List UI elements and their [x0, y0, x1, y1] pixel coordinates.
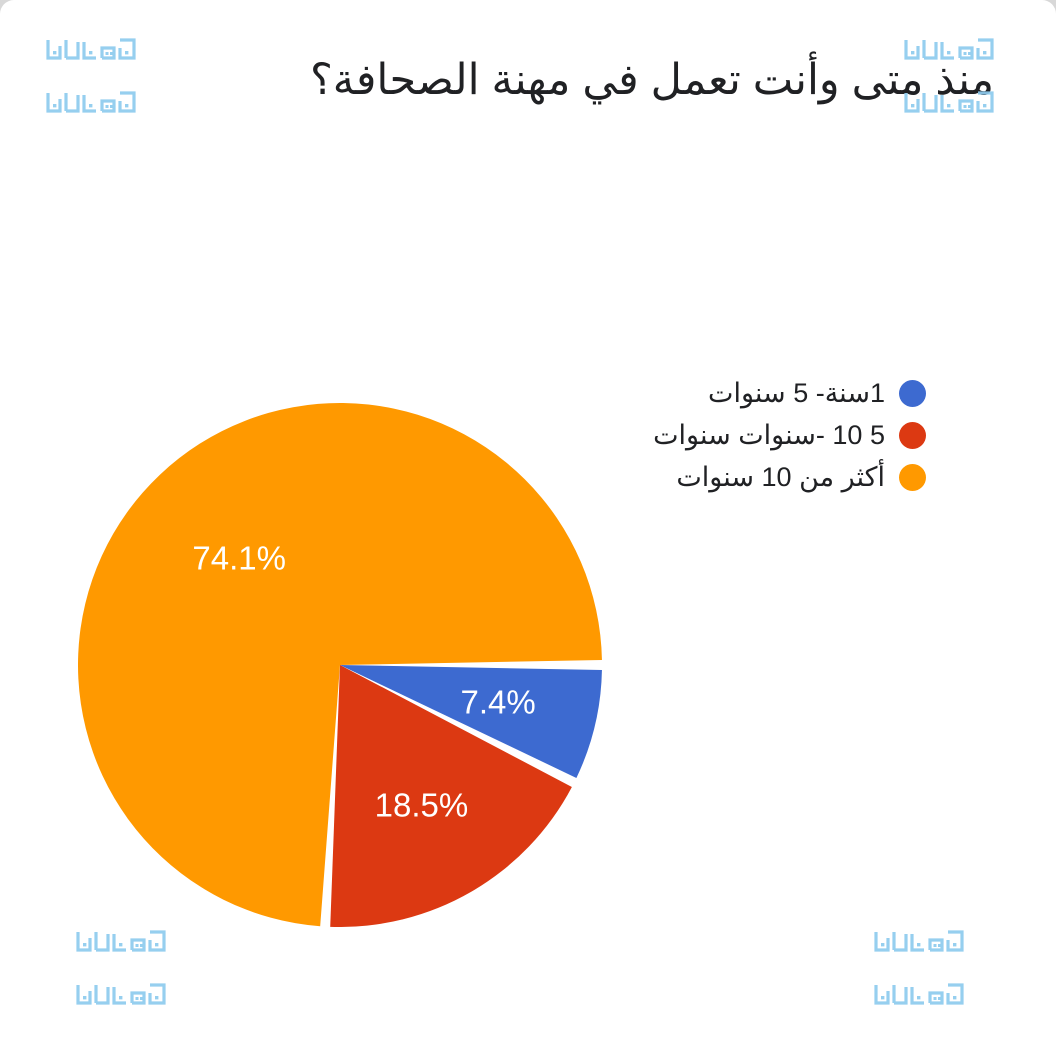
chart-page: منذ متى وأنت تعمل في مهنة الصحافة؟ 7.4%1… [0, 0, 1056, 1043]
pie-slice-label-red: 18.5% [375, 787, 469, 824]
watermark-top-left-2 [44, 89, 138, 115]
legend-item[interactable]: 5 10 -سنوات سنوات [626, 418, 926, 454]
legend-item-label: أكثر من 10 سنوات [676, 460, 885, 496]
legend-item[interactable]: 1سنة- 5 سنوات [626, 376, 926, 412]
watermark-bottom-right-1 [872, 928, 966, 954]
watermark-bottom-right-2 [872, 981, 966, 1007]
legend-dot-red [899, 422, 926, 449]
legend-item-label: 5 10 -سنوات سنوات [653, 418, 885, 454]
pie-chart: 7.4%18.5%74.1% [78, 403, 602, 927]
pie-slice-label-orange: 74.1% [192, 539, 286, 576]
legend-item-label: 1سنة- 5 سنوات [708, 376, 885, 412]
legend-item[interactable]: أكثر من 10 سنوات [626, 460, 926, 496]
legend-dot-orange [899, 464, 926, 491]
legend-dot-blue [899, 380, 926, 407]
pie-slice-label-blue: 7.4% [460, 683, 535, 720]
watermark-bottom-left-1 [74, 928, 168, 954]
chart-title: منذ متى وأنت تعمل في مهنة الصحافة؟ [300, 52, 994, 109]
chart-legend: 1سنة- 5 سنوات5 10 -سنوات سنواتأكثر من 10… [626, 376, 926, 502]
watermark-top-left-1 [44, 36, 138, 62]
watermark-bottom-left-2 [74, 981, 168, 1007]
